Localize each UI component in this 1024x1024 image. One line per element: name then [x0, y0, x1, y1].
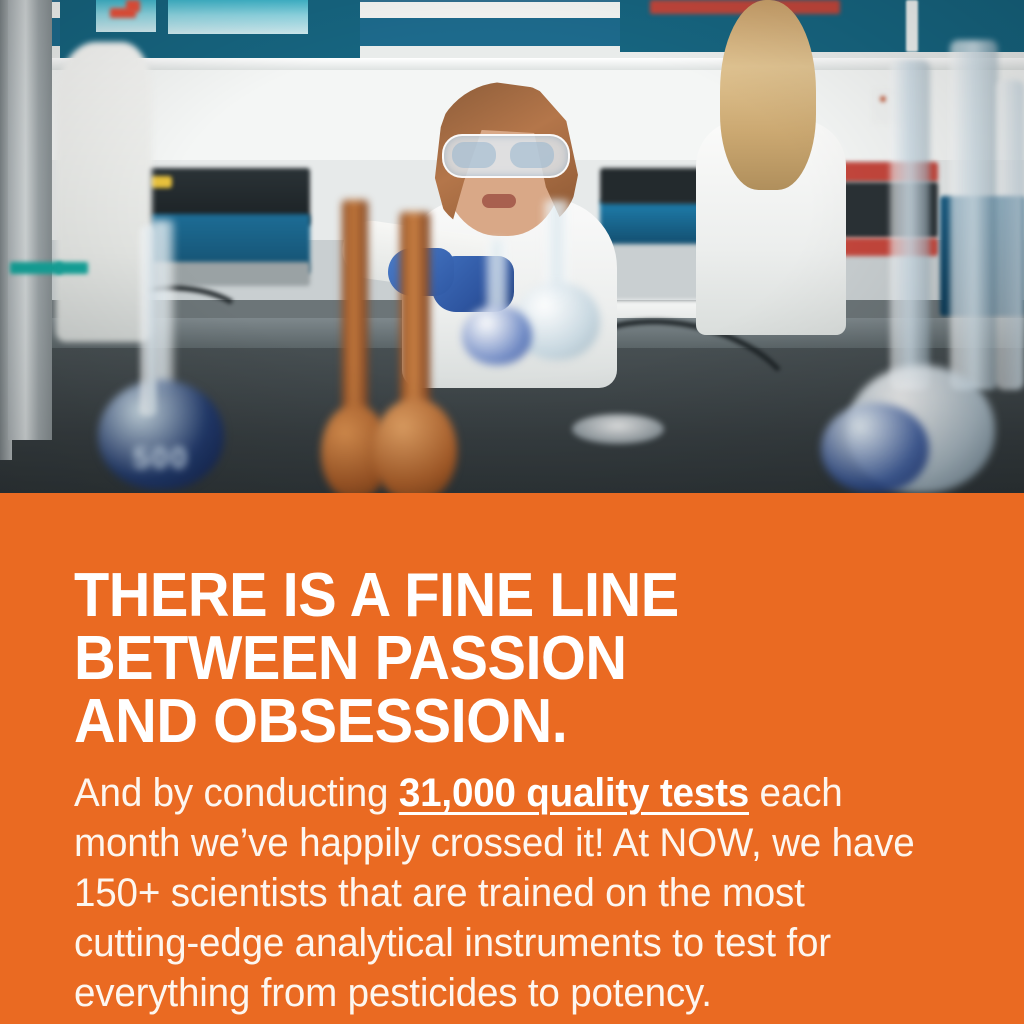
amber-flask-tall-right-bulb	[373, 398, 457, 493]
glass-column-right-c	[996, 80, 1024, 390]
body-paragraph: And by conducting 31,000 quality tests e…	[74, 768, 919, 1018]
scientist-mouth	[482, 194, 516, 208]
goggles-lens-right	[510, 142, 554, 168]
body-text-before: And by conducting	[74, 771, 399, 815]
overhead-cabinet-glass-mid	[168, 0, 308, 34]
body-highlight-quality-tests: 31,000 quality tests	[399, 771, 749, 815]
left-wall-post-inner	[8, 0, 52, 440]
wall-shelf-edge	[0, 58, 1024, 70]
person-right-hair	[720, 0, 816, 190]
lab-photo: 500	[0, 0, 1024, 493]
amber-flask-tall-right	[372, 212, 458, 493]
orange-content-panel: THERE IS A FINE LINE BETWEEN PASSION AND…	[0, 493, 1024, 1024]
glass-column-right-b	[950, 40, 998, 390]
flask-500ml-label: 500	[133, 442, 189, 476]
page-title: THERE IS A FINE LINE BETWEEN PASSION AND…	[74, 564, 892, 753]
clear-flask-center-small-bulb	[462, 305, 532, 365]
amber-flask-tall-left-neck	[342, 200, 368, 410]
goggles-lens-left	[452, 142, 496, 168]
background-person-right	[690, 0, 850, 330]
cabinet-divider-right	[906, 0, 918, 52]
social-graphic-root: 500 THERE IS A FINE LINE BETWEEN PASSION…	[0, 0, 1024, 1024]
clear-flask-center-small	[460, 240, 534, 365]
petri-dish	[572, 414, 664, 444]
pipette-cap-teal-a	[10, 262, 62, 274]
amber-flask-tall-right-neck	[400, 212, 430, 412]
flask-500ml: 500	[96, 220, 226, 490]
pipette-cap-teal-b	[56, 262, 88, 274]
glass-column-right-a	[890, 60, 930, 390]
wall-outlet-dots	[880, 96, 886, 102]
clear-flask-right-blue	[820, 400, 930, 493]
clear-flask-right-blue-bulb	[821, 403, 929, 493]
pipette-stand-left	[140, 226, 156, 416]
safety-goggles-icon	[442, 134, 570, 178]
bench-instrument-yellow-strip	[150, 176, 172, 188]
shelf-bottle-red-b	[126, 0, 140, 12]
lab-scene: 500	[0, 0, 1024, 493]
